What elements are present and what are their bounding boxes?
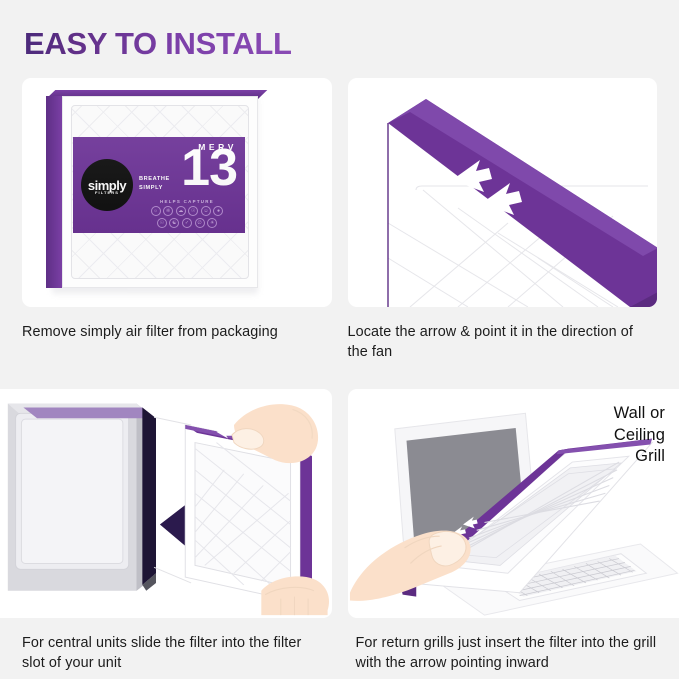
- central-unit-body: [8, 403, 154, 590]
- step-3-cell: For central units slide the filter into …: [0, 389, 340, 674]
- installed-filter-top-edge: [23, 407, 156, 418]
- lint-icon: ☯: [169, 218, 179, 228]
- step-2-caption-wrap: Locate the arrow & point it in the direc…: [348, 323, 658, 363]
- box-front-face: simply FILTERS BREATHE SIMPLY MERV 13 HE…: [62, 96, 258, 288]
- filter-edge-illustration: [348, 78, 658, 307]
- helps-capture-label: HELPS CAPTURE: [133, 199, 241, 204]
- step-1-caption-wrap: Remove simply air filter from packaging: [22, 323, 332, 343]
- pet-dander-icon: ☺: [201, 206, 211, 216]
- allergen-icon: ✓: [182, 218, 192, 228]
- step-3-image-card: [0, 389, 332, 618]
- merv-label: MERV: [198, 142, 237, 152]
- smog-icon: ☀: [207, 218, 217, 228]
- dust-icon: ☼: [151, 206, 161, 216]
- frame-band-bevel: [388, 99, 658, 256]
- step-4-caption: For return grills just insert the filter…: [356, 634, 664, 674]
- step-4-cell: Wall or Ceiling Grill For return grills …: [340, 389, 679, 674]
- merv-value: 13: [181, 145, 237, 193]
- step-3-caption: For central units slide the filter into …: [22, 634, 318, 674]
- virus-icon: ☉: [157, 218, 167, 228]
- step-2-cell: Locate the arrow & point it in the direc…: [340, 78, 679, 363]
- annotation-line-2: Ceiling: [555, 425, 665, 447]
- bacteria-icon: ☉: [188, 206, 198, 216]
- annotation-line-1: Wall or: [555, 403, 665, 425]
- brand-tagline: BREATHE SIMPLY: [139, 175, 170, 192]
- brand-name: simply: [81, 178, 133, 193]
- filter-media: [195, 442, 291, 586]
- row-gap: [0, 363, 679, 389]
- brand-logo-circle: simply FILTERS: [81, 159, 133, 211]
- page-title: EASY TO INSTALL: [24, 26, 292, 62]
- easy-to-install-infographic: EASY TO INSTALL simply: [0, 0, 679, 679]
- wall-or-ceiling-grill-annotation: Wall or Ceiling Grill: [555, 403, 665, 468]
- odor-icon: ∅: [195, 218, 205, 228]
- smoke-icon: ☁: [176, 206, 186, 216]
- step-2-image-card: [348, 78, 658, 307]
- tagline-line-2: SIMPLY: [139, 184, 170, 193]
- steps-row-2: For central units slide the filter into …: [0, 389, 679, 674]
- steps-grid: simply FILTERS BREATHE SIMPLY MERV 13 HE…: [0, 78, 679, 674]
- filter-slot-dark-edge: [142, 407, 156, 584]
- purple-frame-band: [388, 99, 658, 307]
- air-filter-box-illustration: simply FILTERS BREATHE SIMPLY MERV 13 HE…: [46, 90, 264, 296]
- annotation-line-3: Grill: [555, 446, 665, 468]
- step-1-caption: Remove simply air filter from packaging: [22, 323, 318, 343]
- step-2-caption: Locate the arrow & point it in the direc…: [348, 323, 658, 363]
- steps-row-1: simply FILTERS BREATHE SIMPLY MERV 13 HE…: [0, 78, 679, 363]
- brand-subname: FILTERS: [81, 190, 133, 195]
- filter-edge-svg: [348, 78, 658, 307]
- box-label-band: simply FILTERS BREATHE SIMPLY MERV 13 HE…: [73, 137, 245, 233]
- capture-icons-row-1: ☼ ❊ ☁ ☉ ☺ ●: [131, 206, 243, 216]
- step-1-image-card: simply FILTERS BREATHE SIMPLY MERV 13 HE…: [22, 78, 332, 307]
- slide-filter-illustration: [0, 389, 332, 618]
- step-3-caption-wrap: For central units slide the filter into …: [0, 634, 332, 674]
- capture-icons-row-2: ☉ ☯ ✓ ∅ ☀: [131, 218, 243, 228]
- box-spine: [46, 96, 62, 288]
- mold-icon: ●: [213, 206, 223, 216]
- step-4-caption-wrap: For return grills just insert the filter…: [348, 634, 679, 674]
- step-1-cell: simply FILTERS BREATHE SIMPLY MERV 13 HE…: [0, 78, 340, 363]
- pollen-icon: ❊: [163, 206, 173, 216]
- tagline-line-1: BREATHE: [139, 175, 170, 184]
- step-4-image-card: Wall or Ceiling Grill: [348, 389, 679, 618]
